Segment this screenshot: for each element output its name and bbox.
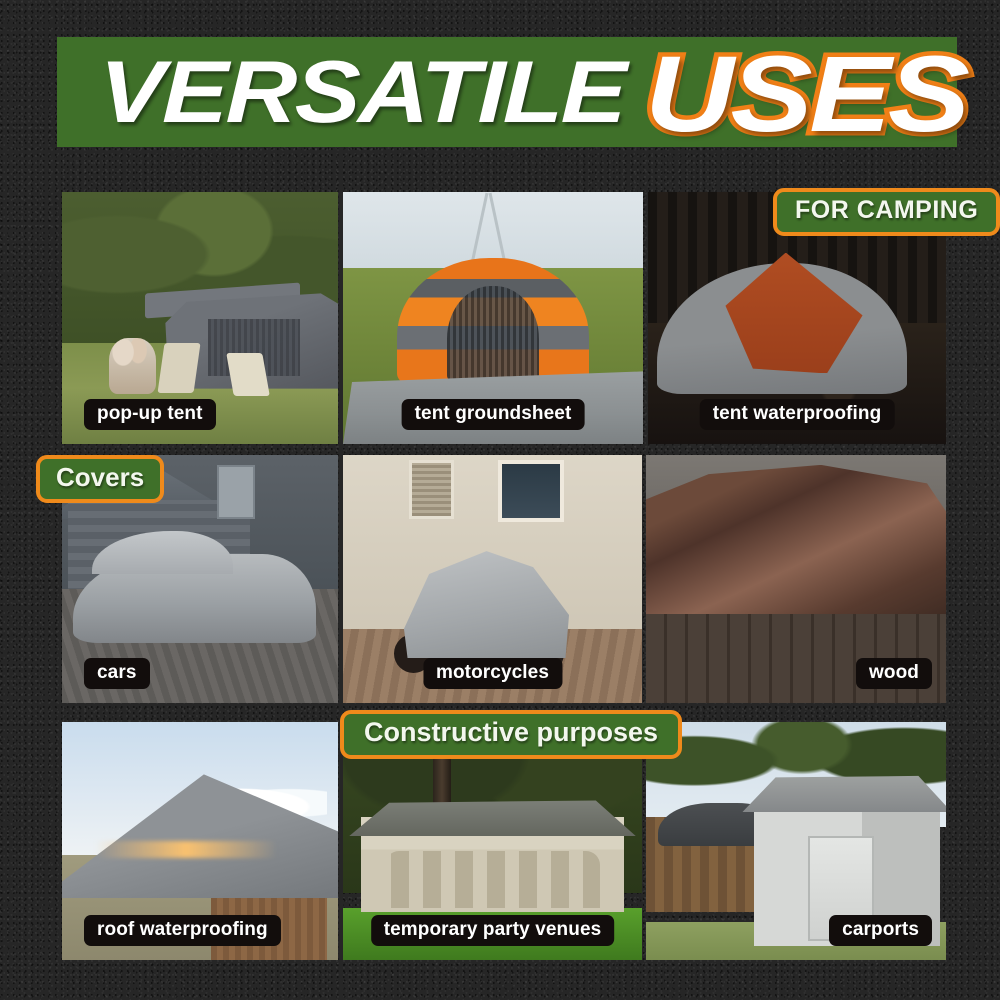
- caption-motorcycles: motorcycles: [423, 658, 562, 689]
- title-word-versatile: VERSATILE: [98, 41, 626, 143]
- photo-cell-pop-up-tent[interactable]: pop-up tent: [62, 192, 338, 444]
- caption-carports: carports: [829, 915, 932, 946]
- photo-cell-carports[interactable]: carports: [646, 722, 946, 960]
- title-word-uses: USES: [645, 31, 967, 156]
- badge-for-camping: FOR CAMPING: [773, 188, 1000, 236]
- page-title: VERSATILE USES: [57, 37, 957, 147]
- window-icon: [217, 465, 256, 520]
- window-icon: [498, 460, 564, 522]
- caption-wood: wood: [856, 658, 932, 689]
- badge-constructive-purposes: Constructive purposes: [340, 710, 682, 759]
- caption-roof-waterproofing: roof waterproofing: [84, 915, 281, 946]
- eave-lighting-icon: [95, 841, 277, 858]
- header-banner: VERSATILE USES: [57, 37, 945, 147]
- brown-tarp-icon: [646, 465, 946, 619]
- caption-pop-up-tent: pop-up tent: [84, 399, 216, 430]
- shutter-window-icon: [409, 460, 454, 520]
- photo-cell-wood[interactable]: wood: [646, 455, 946, 703]
- badge-covers: Covers: [36, 455, 164, 503]
- campers-icon: [109, 338, 156, 393]
- tent-window-arches-icon: [385, 851, 600, 908]
- photo-cell-tent-groundsheet[interactable]: tent groundsheet: [343, 192, 643, 444]
- caption-tent-waterproofing: tent waterproofing: [700, 399, 895, 430]
- photo-grid: pop-up tent tent groundsheet tent waterp…: [62, 192, 946, 960]
- photo-cell-roof-waterproofing[interactable]: roof waterproofing: [62, 722, 338, 960]
- caption-tent-groundsheet: tent groundsheet: [402, 399, 585, 430]
- caption-cars: cars: [84, 658, 150, 689]
- tent-roof-icon: [349, 798, 636, 836]
- car-cover-icon: [73, 554, 316, 643]
- camp-chair-icon: [158, 343, 201, 393]
- photo-cell-motorcycles[interactable]: motorcycles: [343, 455, 642, 703]
- caption-temporary-party-venues: temporary party venues: [371, 915, 615, 946]
- grid-row-covers: cars motorcycles wood: [62, 455, 946, 703]
